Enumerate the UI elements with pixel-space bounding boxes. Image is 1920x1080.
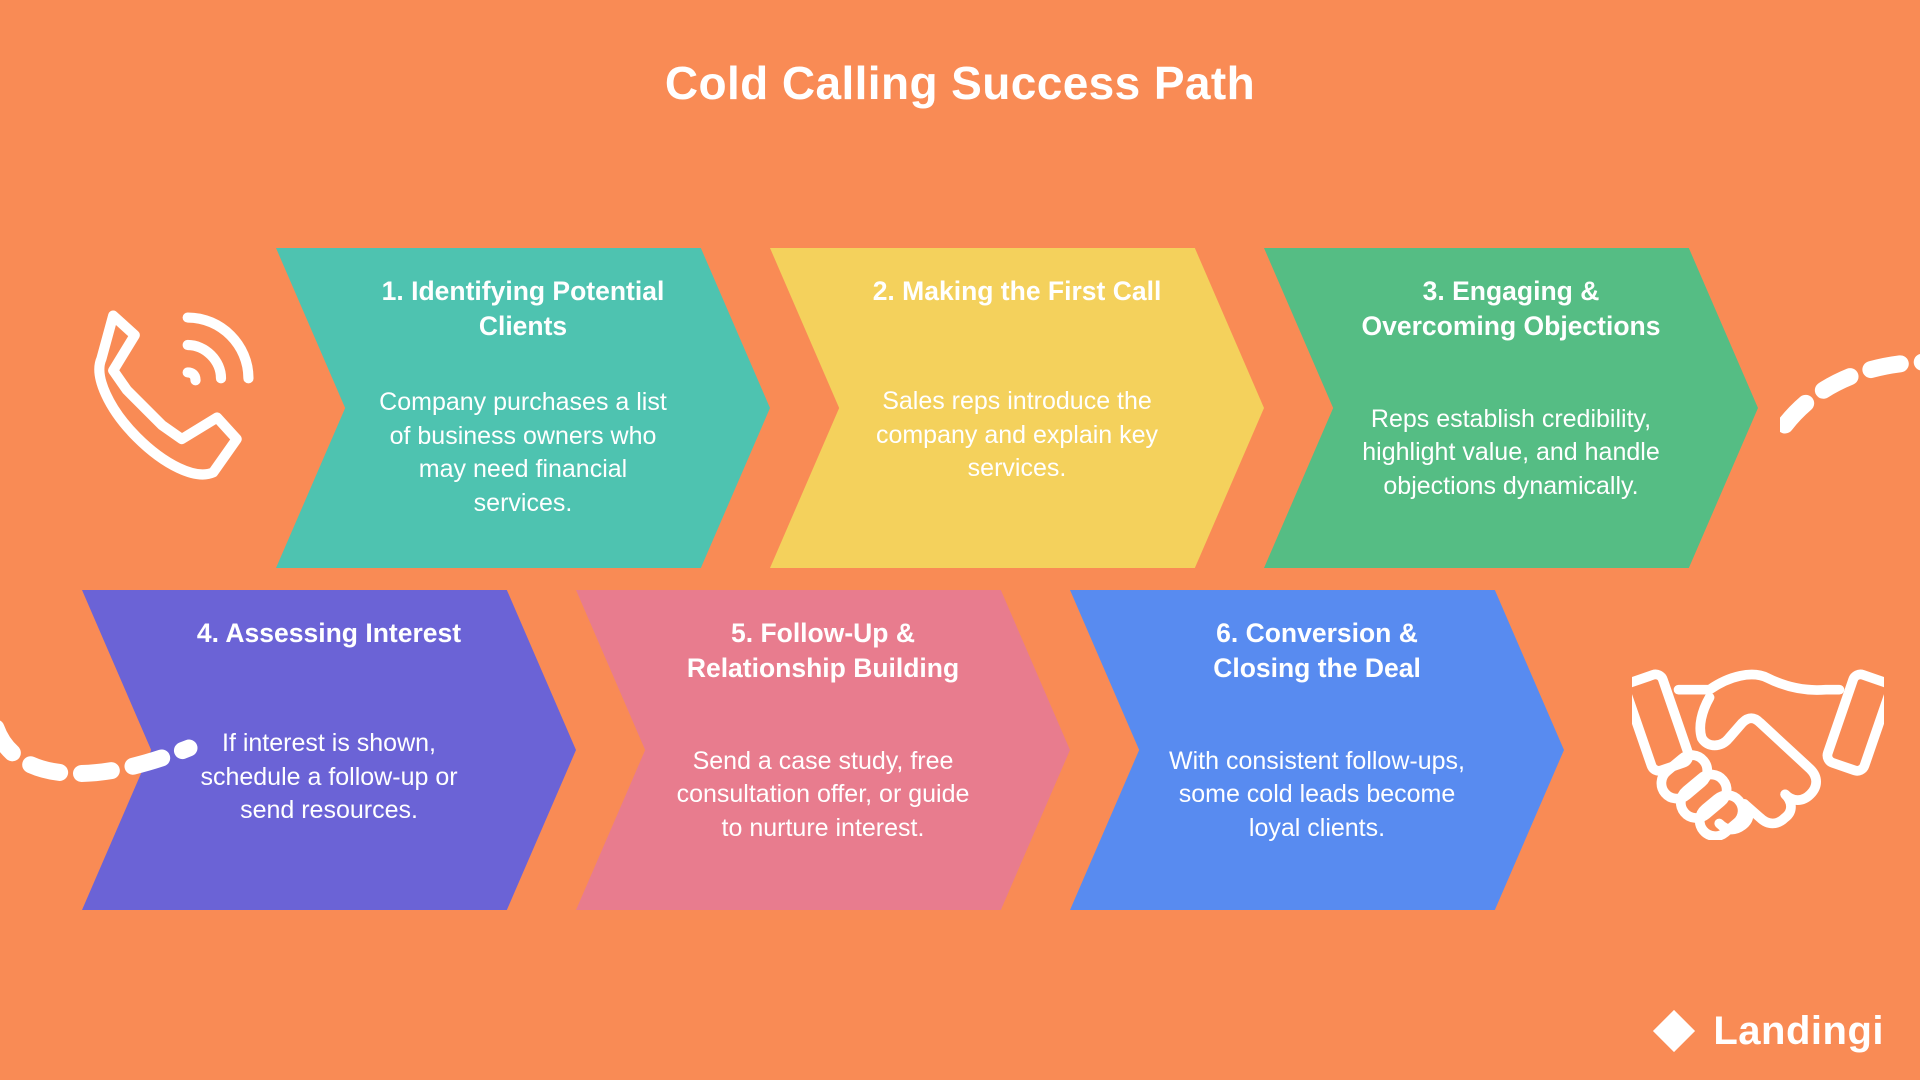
step-description: If interest is shown, schedule a follow-… — [178, 711, 480, 828]
process-step-1[interactable]: 1. Identifying Potential Clients Company… — [276, 248, 770, 568]
step-title: 3. Engaging & Overcoming Objections — [1360, 274, 1662, 344]
process-step-5[interactable]: 5. Follow-Up & Relationship Building Sen… — [576, 590, 1070, 910]
phone-call-icon — [74, 296, 270, 492]
dashed-curve-connector-left — [0, 690, 204, 820]
page-title: Cold Calling Success Path — [0, 56, 1920, 110]
process-step-2[interactable]: 2. Making the First Call Sales reps intr… — [770, 248, 1264, 568]
landingi-logo[interactable]: Landingi — [1651, 1008, 1884, 1054]
step-title: 5. Follow-Up & Relationship Building — [672, 616, 974, 686]
step-title: 2. Making the First Call — [866, 274, 1168, 309]
process-step-3[interactable]: 3. Engaging & Overcoming Objections Reps… — [1264, 248, 1758, 568]
step-title: 1. Identifying Potential Clients — [372, 274, 674, 344]
handshake-icon — [1632, 644, 1884, 840]
step-description: Send a case study, free consultation off… — [672, 729, 974, 846]
landingi-diamond-icon — [1651, 1008, 1697, 1054]
step-title: 6. Conversion & Closing the Deal — [1166, 616, 1468, 686]
dashed-curve-connector-right — [1780, 330, 1920, 460]
brand-name: Landingi — [1713, 1009, 1884, 1054]
step-description: Reps establish credibility, highlight va… — [1360, 387, 1662, 504]
step-description: With consistent follow-ups, some cold le… — [1166, 729, 1468, 846]
step-title: 4. Assessing Interest — [178, 616, 480, 651]
step-description: Sales reps introduce the company and exp… — [866, 369, 1168, 486]
step-description: Company purchases a list of business own… — [372, 370, 674, 520]
process-step-6[interactable]: 6. Conversion & Closing the Deal With co… — [1070, 590, 1564, 910]
